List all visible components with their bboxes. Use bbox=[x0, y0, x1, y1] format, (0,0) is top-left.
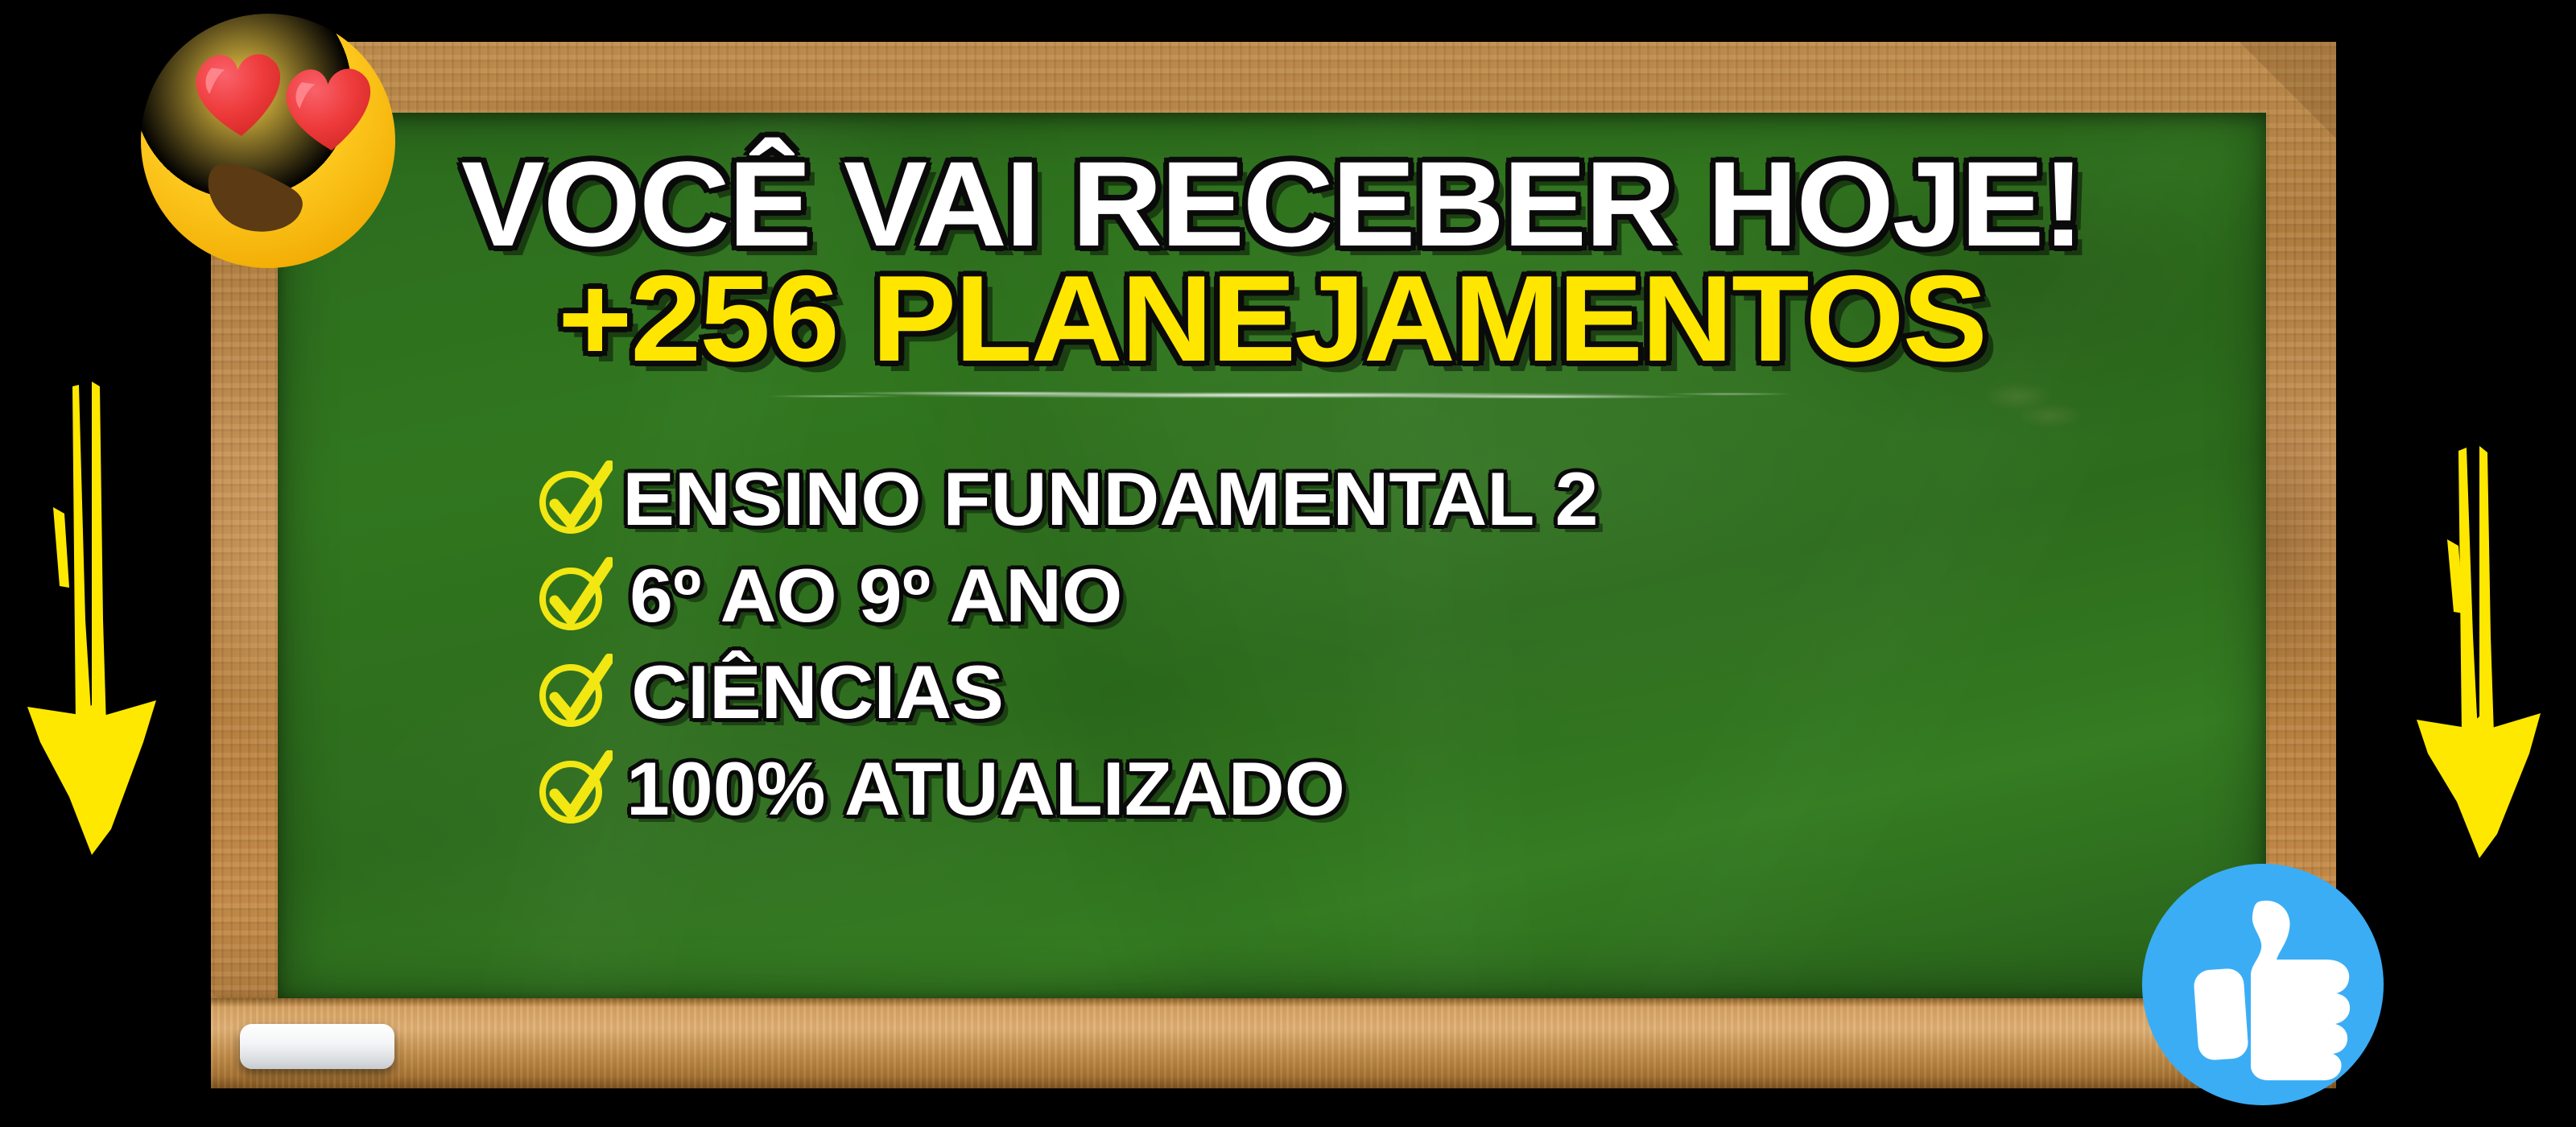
check-circle-icon bbox=[535, 750, 613, 828]
subheadline-text: +256 PLANEJAMENTOS bbox=[278, 258, 2266, 380]
chalkboard-ledge bbox=[211, 998, 2336, 1088]
thumbs-up-icon[interactable] bbox=[2130, 852, 2396, 1117]
check-circle-icon bbox=[535, 460, 613, 538]
chalkboard-surface: ALFABETINHO VOCÊ VAI RECEBER HOJE! +256 … bbox=[278, 113, 2266, 998]
down-arrow-icon-right bbox=[2407, 378, 2544, 861]
heart-eyes-emoji bbox=[135, 8, 401, 274]
chalk-divider bbox=[753, 388, 1791, 402]
headline-text: VOCÊ VAI RECEBER HOJE! bbox=[278, 143, 2266, 264]
benefit-item: CIÊNCIAS bbox=[535, 654, 1584, 731]
down-arrow-icon-left bbox=[23, 378, 159, 861]
watermark-ghost bbox=[1975, 369, 2095, 438]
chalkboard-eraser bbox=[240, 1024, 394, 1069]
check-circle-icon bbox=[535, 654, 613, 731]
benefit-item: 6º AO 9º ANO bbox=[535, 557, 1584, 634]
benefit-label: 100% ATUALIZADO bbox=[626, 751, 1345, 827]
benefits-list: ENSINO FUNDAMENTAL 2 6º AO 9º ANO CIÊNCI… bbox=[535, 460, 1584, 828]
benefit-item: 100% ATUALIZADO bbox=[535, 750, 1584, 828]
benefit-label: ENSINO FUNDAMENTAL 2 bbox=[622, 461, 1598, 537]
benefit-label: CIÊNCIAS bbox=[631, 654, 1004, 730]
promo-graphic: ALFABETINHO VOCÊ VAI RECEBER HOJE! +256 … bbox=[0, 0, 2576, 1127]
benefit-item: ENSINO FUNDAMENTAL 2 bbox=[535, 460, 1584, 538]
benefit-label: 6º AO 9º ANO bbox=[630, 558, 1122, 634]
check-circle-icon bbox=[535, 557, 613, 634]
